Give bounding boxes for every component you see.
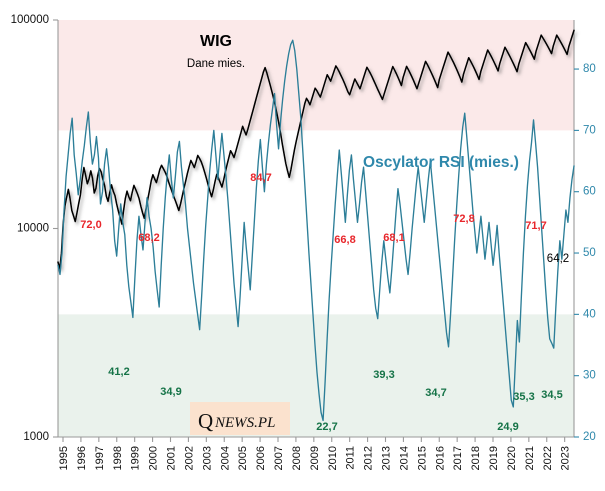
left-axis-tick-label: 100000 [11,14,49,26]
x-axis-tick-label: 1995 [58,446,70,470]
annotation-low: 34,7 [425,387,446,399]
annotation-high: 68,2 [138,232,159,244]
x-axis-tick-label: 2001 [166,446,178,470]
annotation-low: 35,3 [513,391,534,403]
x-axis-tick-label: 2023 [560,446,572,470]
x-axis-tick-label: 2003 [201,446,213,470]
x-axis-tick-label: 2022 [542,446,554,470]
x-axis-tick-label: 2002 [183,446,195,470]
right-axis-tick-label: 30 [583,370,596,382]
x-axis-tick-label: 2014 [398,446,410,470]
chart-container: 1000001000010008070605040302019951996199… [0,0,605,491]
annotation-low: 22,7 [316,421,337,433]
x-axis-tick-label: 2013 [381,446,393,470]
annotation-high: 71,7 [525,220,546,232]
chart-subtitle: Dane mies. [187,58,245,70]
x-axis-tick-label: 2010 [327,446,339,470]
annotation-low: 24,9 [497,421,518,433]
x-axis-tick-label: 2004 [219,446,231,470]
band-oversold [58,314,574,437]
annotation-high: 72,8 [453,213,474,225]
right-axis-tick-label: 70 [583,124,596,136]
watermark-q-logo: Q [198,409,213,433]
x-axis-tick-label: 2007 [273,446,285,470]
annotation-high: 72,0 [80,219,101,231]
annotation-low: 41,2 [108,366,129,378]
right-axis-tick-label: 20 [583,431,596,443]
x-axis-tick-label: 2006 [255,446,267,470]
x-axis-tick-label: 2000 [148,446,160,470]
right-axis-tick-label: 40 [583,308,596,320]
x-axis-tick-label: 2017 [452,446,464,470]
right-axis-tick-label: 60 [583,186,596,198]
left-axis-tick-label: 10000 [17,223,49,235]
annotation-low: 39,3 [373,369,394,381]
annotation-low: 34,5 [541,389,562,401]
x-axis-tick-label: 2021 [524,446,536,470]
annotation-high: 66,8 [334,234,355,246]
wig-rsi-chart: 1000001000010008070605040302019951996199… [0,0,605,491]
x-axis-tick-label: 1999 [130,446,142,470]
x-axis-tick-label: 1998 [112,446,124,470]
chart-title: WIG [200,33,232,50]
right-axis-tick-label: 50 [583,247,596,259]
x-axis-tick-label: 1997 [94,446,106,470]
annotation-high: 68,1 [383,232,404,244]
rsi-series-title: Oscylator RSI (mies.) [363,154,519,171]
watermark-label: NEWS.PL [214,415,275,431]
x-axis-tick-label: 2012 [363,446,375,470]
x-axis-tick-label: 2020 [506,446,518,470]
x-axis-tick-label: 2016 [434,446,446,470]
watermark: QNEWS.PL [190,402,290,435]
x-axis-tick-label: 2011 [345,446,357,470]
x-axis-tick-label: 2005 [237,446,249,470]
x-axis-tick-label: 2008 [291,446,303,470]
annotation-last-value: 64,2 [547,253,569,265]
x-axis-tick-label: 2009 [309,446,321,470]
x-axis-tick-label: 2018 [470,446,482,470]
x-axis-tick-label: 1996 [76,446,88,470]
annotation-high: 84,7 [250,172,271,184]
band-overbought [58,20,574,130]
annotation-low: 34,9 [160,386,181,398]
x-axis-tick-label: 2019 [488,446,500,470]
left-axis-tick-label: 1000 [23,431,49,443]
right-axis-tick-label: 80 [583,63,596,75]
x-axis-tick-label: 2015 [416,446,428,470]
